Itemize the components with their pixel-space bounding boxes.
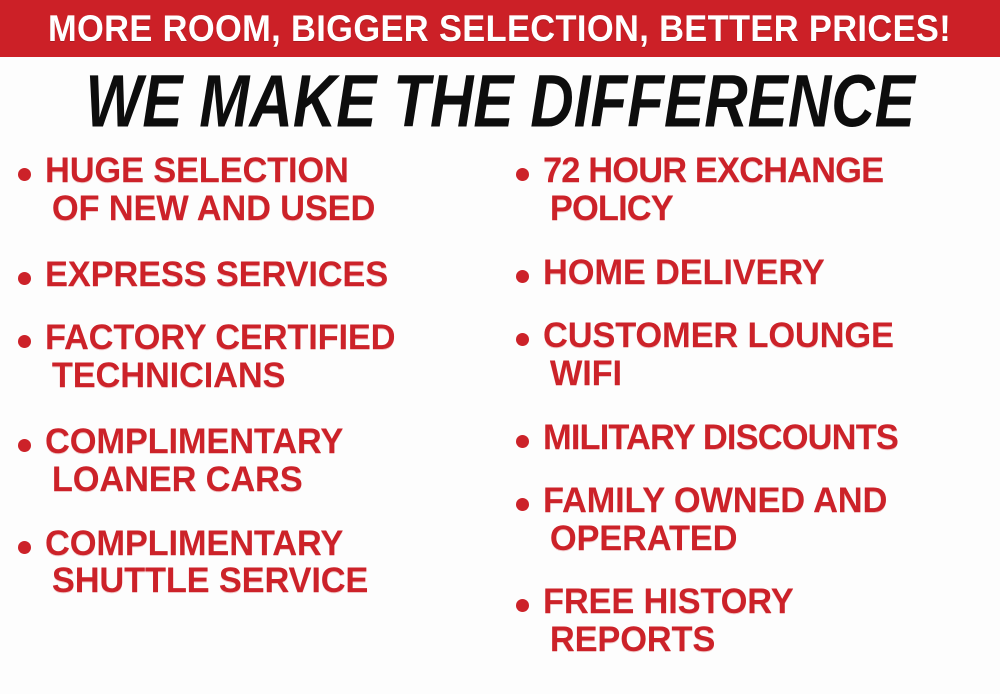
list-item: FAMILY OWNED ANDOPERATED	[516, 482, 998, 558]
list-item-line1: FREE HISTORY	[543, 582, 793, 621]
bullet-dot-icon	[18, 168, 31, 181]
benefits-column-right: 72 HOUR EXCHANGEPOLICY HOME DELIVERY CUS…	[500, 152, 1000, 685]
list-item-label: EXPRESS SERVICES	[45, 256, 489, 294]
list-item-label: COMPLIMENTARYSHUTTLE SERVICE	[45, 525, 489, 601]
list-item-label: MILITARY DISCOUNTS	[543, 419, 991, 457]
list-item-label: FREE HISTORYREPORTS	[543, 583, 991, 659]
list-item-line2: SHUTTLE SERVICE	[45, 562, 489, 600]
bullet-dot-icon	[516, 435, 529, 448]
list-item: MILITARY DISCOUNTS	[516, 419, 998, 457]
list-item-label: 72 HOUR EXCHANGEPOLICY	[543, 152, 991, 228]
list-item-line1: COMPLIMENTARY	[45, 524, 343, 563]
list-item-label: FAMILY OWNED ANDOPERATED	[543, 482, 991, 558]
list-item-line2: WIFI	[543, 355, 991, 393]
benefits-column-left: HUGE SELECTIONOF NEW AND USED EXPRESS SE…	[0, 152, 500, 626]
list-item: FREE HISTORYREPORTS	[516, 583, 998, 659]
page-title: WE MAKE THE DIFFERENCE	[85, 64, 914, 138]
bullet-dot-icon	[516, 270, 529, 283]
list-item-label: HOME DELIVERY	[543, 254, 991, 292]
list-item: HOME DELIVERY	[516, 254, 998, 292]
list-item-line2: LOANER CARS	[45, 461, 489, 499]
promo-banner: MORE ROOM, BIGGER SELECTION, BETTER PRIC…	[0, 0, 1000, 57]
list-item-line2: REPORTS	[543, 621, 991, 659]
list-item: COMPLIMENTARYSHUTTLE SERVICE	[18, 525, 496, 601]
list-item-line1: FACTORY CERTIFIED	[45, 318, 395, 357]
list-item: COMPLIMENTARYLOANER CARS	[18, 423, 496, 499]
bullet-dot-icon	[516, 599, 529, 612]
benefits-columns: HUGE SELECTIONOF NEW AND USED EXPRESS SE…	[0, 152, 1000, 694]
list-item-label: COMPLIMENTARYLOANER CARS	[45, 423, 489, 499]
list-item-label: FACTORY CERTIFIEDTECHNICIANS	[45, 319, 489, 395]
list-item: HUGE SELECTIONOF NEW AND USED	[18, 152, 496, 228]
list-item: EXPRESS SERVICES	[18, 256, 496, 294]
bullet-dot-icon	[18, 272, 31, 285]
list-item-line1: HOME DELIVERY	[543, 253, 825, 292]
list-item-line1: MILITARY DISCOUNTS	[543, 418, 898, 457]
list-item-line2: OPERATED	[543, 520, 991, 558]
bullet-dot-icon	[18, 335, 31, 348]
list-item-label: HUGE SELECTIONOF NEW AND USED	[45, 152, 489, 228]
list-item: 72 HOUR EXCHANGEPOLICY	[516, 152, 998, 228]
list-item-line2: POLICY	[543, 190, 991, 228]
list-item-line1: CUSTOMER LOUNGE	[543, 316, 894, 355]
bullet-dot-icon	[18, 541, 31, 554]
bullet-dot-icon	[516, 498, 529, 511]
list-item-line1: FAMILY OWNED AND	[543, 481, 887, 520]
headline-container: WE MAKE THE DIFFERENCE	[0, 62, 1000, 140]
dealership-benefits-poster: MORE ROOM, BIGGER SELECTION, BETTER PRIC…	[0, 0, 1000, 694]
bullet-dot-icon	[516, 333, 529, 346]
bullet-dot-icon	[18, 439, 31, 452]
list-item-line2: OF NEW AND USED	[45, 190, 489, 228]
list-item-line1: COMPLIMENTARY	[45, 422, 343, 461]
list-item: CUSTOMER LOUNGEWIFI	[516, 317, 998, 393]
promo-banner-text: MORE ROOM, BIGGER SELECTION, BETTER PRIC…	[48, 10, 951, 47]
list-item-line2: TECHNICIANS	[45, 357, 489, 395]
list-item: FACTORY CERTIFIEDTECHNICIANS	[18, 319, 496, 395]
list-item-line1: HUGE SELECTION	[45, 151, 349, 190]
list-item-line1: 72 HOUR EXCHANGE	[543, 151, 883, 190]
list-item-label: CUSTOMER LOUNGEWIFI	[543, 317, 991, 393]
bullet-dot-icon	[516, 168, 529, 181]
list-item-line1: EXPRESS SERVICES	[45, 255, 388, 294]
